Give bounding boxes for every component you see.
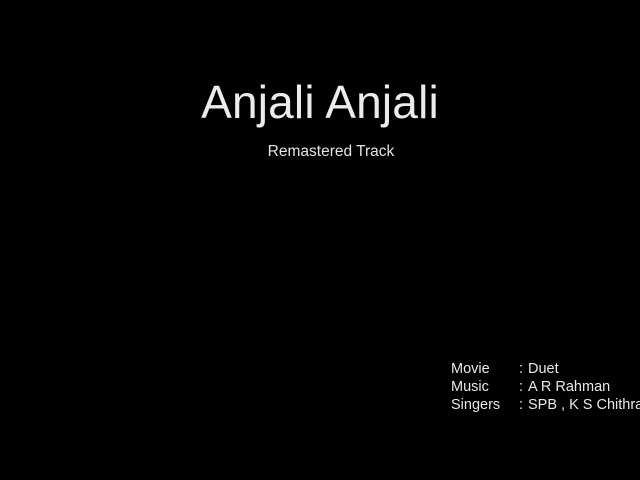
credit-value-singers: SPB , K S Chithra [528,396,640,414]
credits-block: Movie : Duet Music : A R Rahman Singers … [451,360,640,414]
credit-separator-movie: : [519,360,528,378]
track-subtitle: Remastered Track [22,143,640,162]
video-title-card: Anjali Anjali Remastered Track Movie : D… [0,0,640,480]
track-title: Anjali Anjali [0,78,640,126]
credit-label-singers: Singers [451,396,519,414]
credit-row-music: Music : A R Rahman [451,378,640,396]
credit-row-movie: Movie : Duet [451,360,640,378]
credit-row-singers: Singers : SPB , K S Chithra [451,396,640,414]
credit-value-movie: Duet [528,360,559,378]
credit-label-movie: Movie [451,360,519,378]
credit-separator-singers: : [519,396,528,414]
credit-value-music: A R Rahman [528,378,610,396]
credit-label-music: Music [451,378,519,396]
credit-separator-music: : [519,378,528,396]
title-block: Anjali Anjali Remastered Track [0,78,640,162]
